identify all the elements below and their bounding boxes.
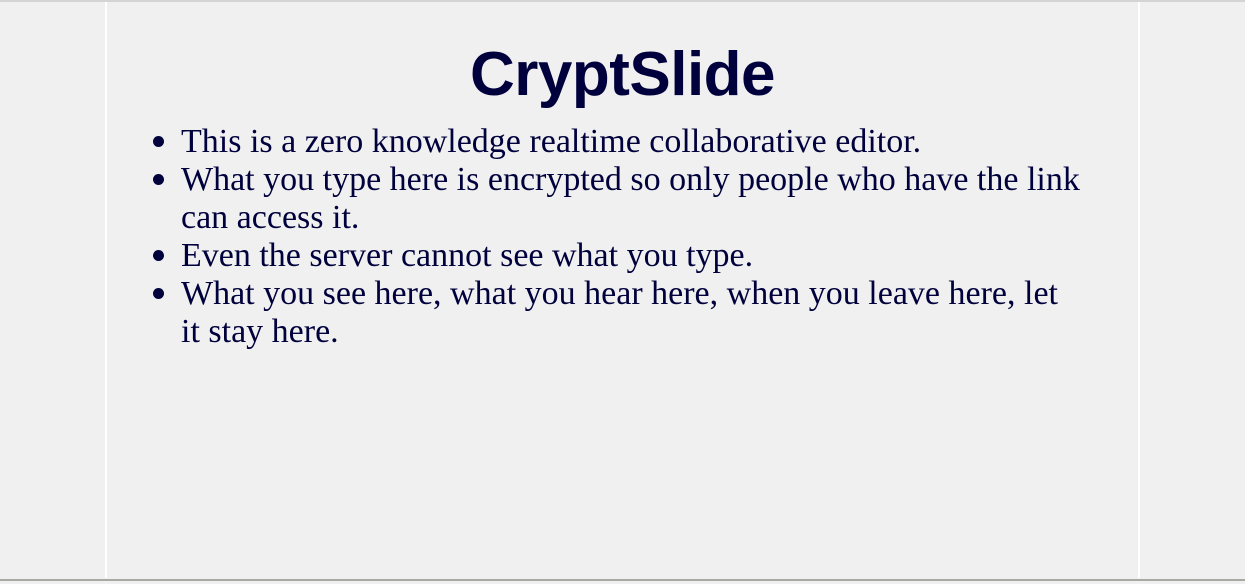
bullet-point-icon bbox=[153, 250, 164, 261]
slide-bullet-list[interactable]: This is a zero knowledge realtime collab… bbox=[107, 106, 1138, 351]
bullet-point-icon bbox=[153, 174, 164, 185]
left-gutter bbox=[0, 0, 105, 584]
right-gutter bbox=[1140, 0, 1245, 584]
bullet-point-icon bbox=[153, 288, 164, 299]
page-title: CryptSlide bbox=[107, 2, 1138, 106]
top-divider bbox=[0, 0, 1245, 2]
list-item-text: What you type here is encrypted so only … bbox=[181, 161, 1082, 237]
list-item[interactable]: What you see here, what you hear here, w… bbox=[153, 275, 1082, 351]
list-item[interactable]: This is a zero knowledge realtime collab… bbox=[153, 123, 1082, 161]
list-item-text: Even the server cannot see what you type… bbox=[181, 237, 1082, 275]
list-item-text: What you see here, what you hear here, w… bbox=[181, 275, 1082, 351]
slide-canvas[interactable]: CryptSlide This is a zero knowledge real… bbox=[105, 2, 1140, 578]
bottom-divider bbox=[0, 579, 1245, 581]
bullet-point-icon bbox=[153, 136, 164, 147]
list-item[interactable]: What you type here is encrypted so only … bbox=[153, 161, 1082, 237]
list-item-text: This is a zero knowledge realtime collab… bbox=[181, 123, 1082, 161]
list-item[interactable]: Even the server cannot see what you type… bbox=[153, 237, 1082, 275]
